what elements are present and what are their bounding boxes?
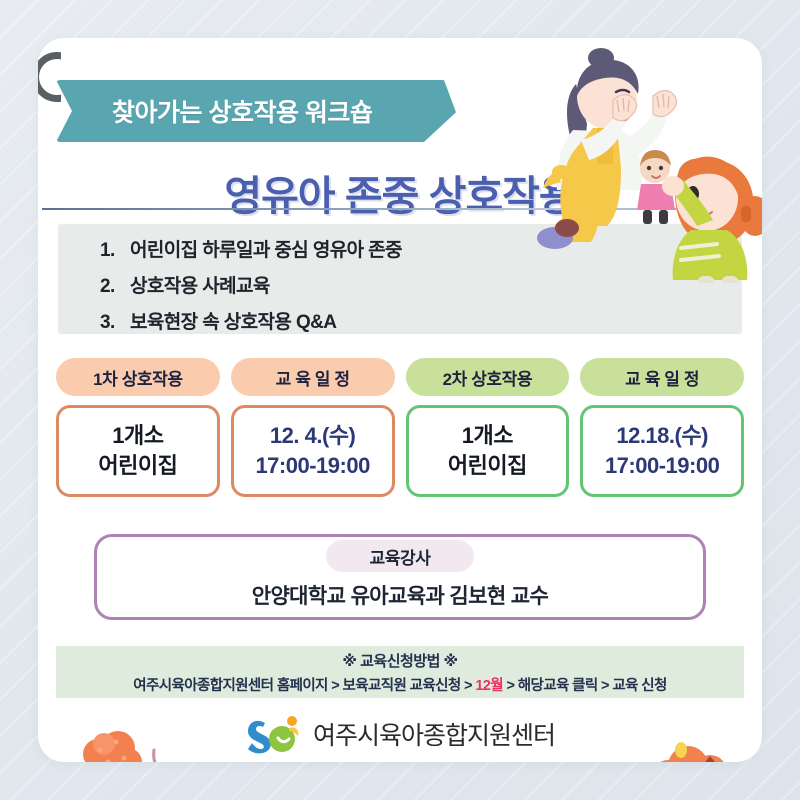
agenda-number: 1. [100,240,130,262]
sc-swirl-logo-icon [245,714,303,754]
schedule-box: 1개소 어린이집 [406,405,570,497]
instructor-name: 안양대학교 유아교육과 김보현 교수 [252,580,549,610]
apply-path-before: 여주시육아종합지원센터 홈페이지 > 보육교직원 교육신청 > [133,678,475,694]
agenda-number: 2. [100,276,130,298]
teacher-and-child-illustration [521,48,762,283]
header-ribbon: 찾아가는 상호작용 워크숍 [56,80,456,142]
apply-heading: ※ 교육신청방법 ※ [342,650,457,671]
schedule-box: 12.18.(수) 17:00-19:00 [580,405,744,497]
schedule-pill: 교 육 일 정 [231,358,395,396]
agenda-text: 상호작용 사례교육 [130,271,270,298]
schedule-box-line1: 12.18.(수) [616,421,708,451]
agenda-number: 3. [100,312,130,334]
schedule-box-line2: 17:00-19:00 [605,451,719,481]
poster-canvas: 찾아가는 상호작용 워크숍 영유아 존중 상호작용 [0,0,800,800]
logo-text: 여주시육아종합지원센터 [313,716,555,752]
schedule-box: 12. 4.(수) 17:00-19:00 [231,405,395,497]
schedule-box-line1: 1개소 [462,421,513,451]
instructor-pill-label: 교육강사 [326,540,474,572]
schedule-grid: 1차 상호작용 1개소 어린이집 교 육 일 정 12. 4.(수) 17:00… [56,358,744,497]
schedule-box-line1: 1개소 [112,421,163,451]
instructor-panel: 교육강사 안양대학교 유아교육과 김보현 교수 [94,534,706,620]
schedule-box-line1: 12. 4.(수) [270,421,355,451]
schedule-box-line2: 어린이집 [448,451,527,481]
schedule-box-line2: 17:00-19:00 [255,451,369,481]
poster-card: 찾아가는 상호작용 워크숍 영유아 존중 상호작용 [38,38,762,762]
schedule-box: 1개소 어린이집 [56,405,220,497]
schedule-column-1: 1차 상호작용 1개소 어린이집 [56,358,220,497]
apply-path: 여주시육아종합지원센터 홈페이지 > 보육교직원 교육신청 > 12월 > 해당… [133,674,666,695]
schedule-pill: 교 육 일 정 [580,358,744,396]
schedule-box-line2: 어린이집 [98,451,177,481]
agenda-text: 어린이집 하루일과 중심 영유아 존중 [130,235,402,262]
schedule-column-4: 교 육 일 정 12.18.(수) 17:00-19:00 [580,358,744,497]
agenda-item: 3. 보육현장 속 상호작용 Q&A [100,307,742,334]
agenda-text: 보육현장 속 상호작용 Q&A [130,307,336,334]
apply-path-highlight: 12월 [475,678,503,694]
schedule-column-2: 교 육 일 정 12. 4.(수) 17:00-19:00 [231,358,395,497]
center-logo: 여주시육아종합지원센터 [38,714,762,754]
schedule-pill: 1차 상호작용 [56,358,220,396]
apply-band: ※ 교육신청방법 ※ 여주시육아종합지원센터 홈페이지 > 보육교직원 교육신청… [56,646,744,698]
schedule-pill: 2차 상호작용 [406,358,570,396]
ribbon-label: 찾아가는 상호작용 워크숍 [56,80,456,142]
schedule-column-3: 2차 상호작용 1개소 어린이집 [406,358,570,497]
apply-path-after: > 해당교육 클릭 > 교육 신청 [503,678,667,694]
